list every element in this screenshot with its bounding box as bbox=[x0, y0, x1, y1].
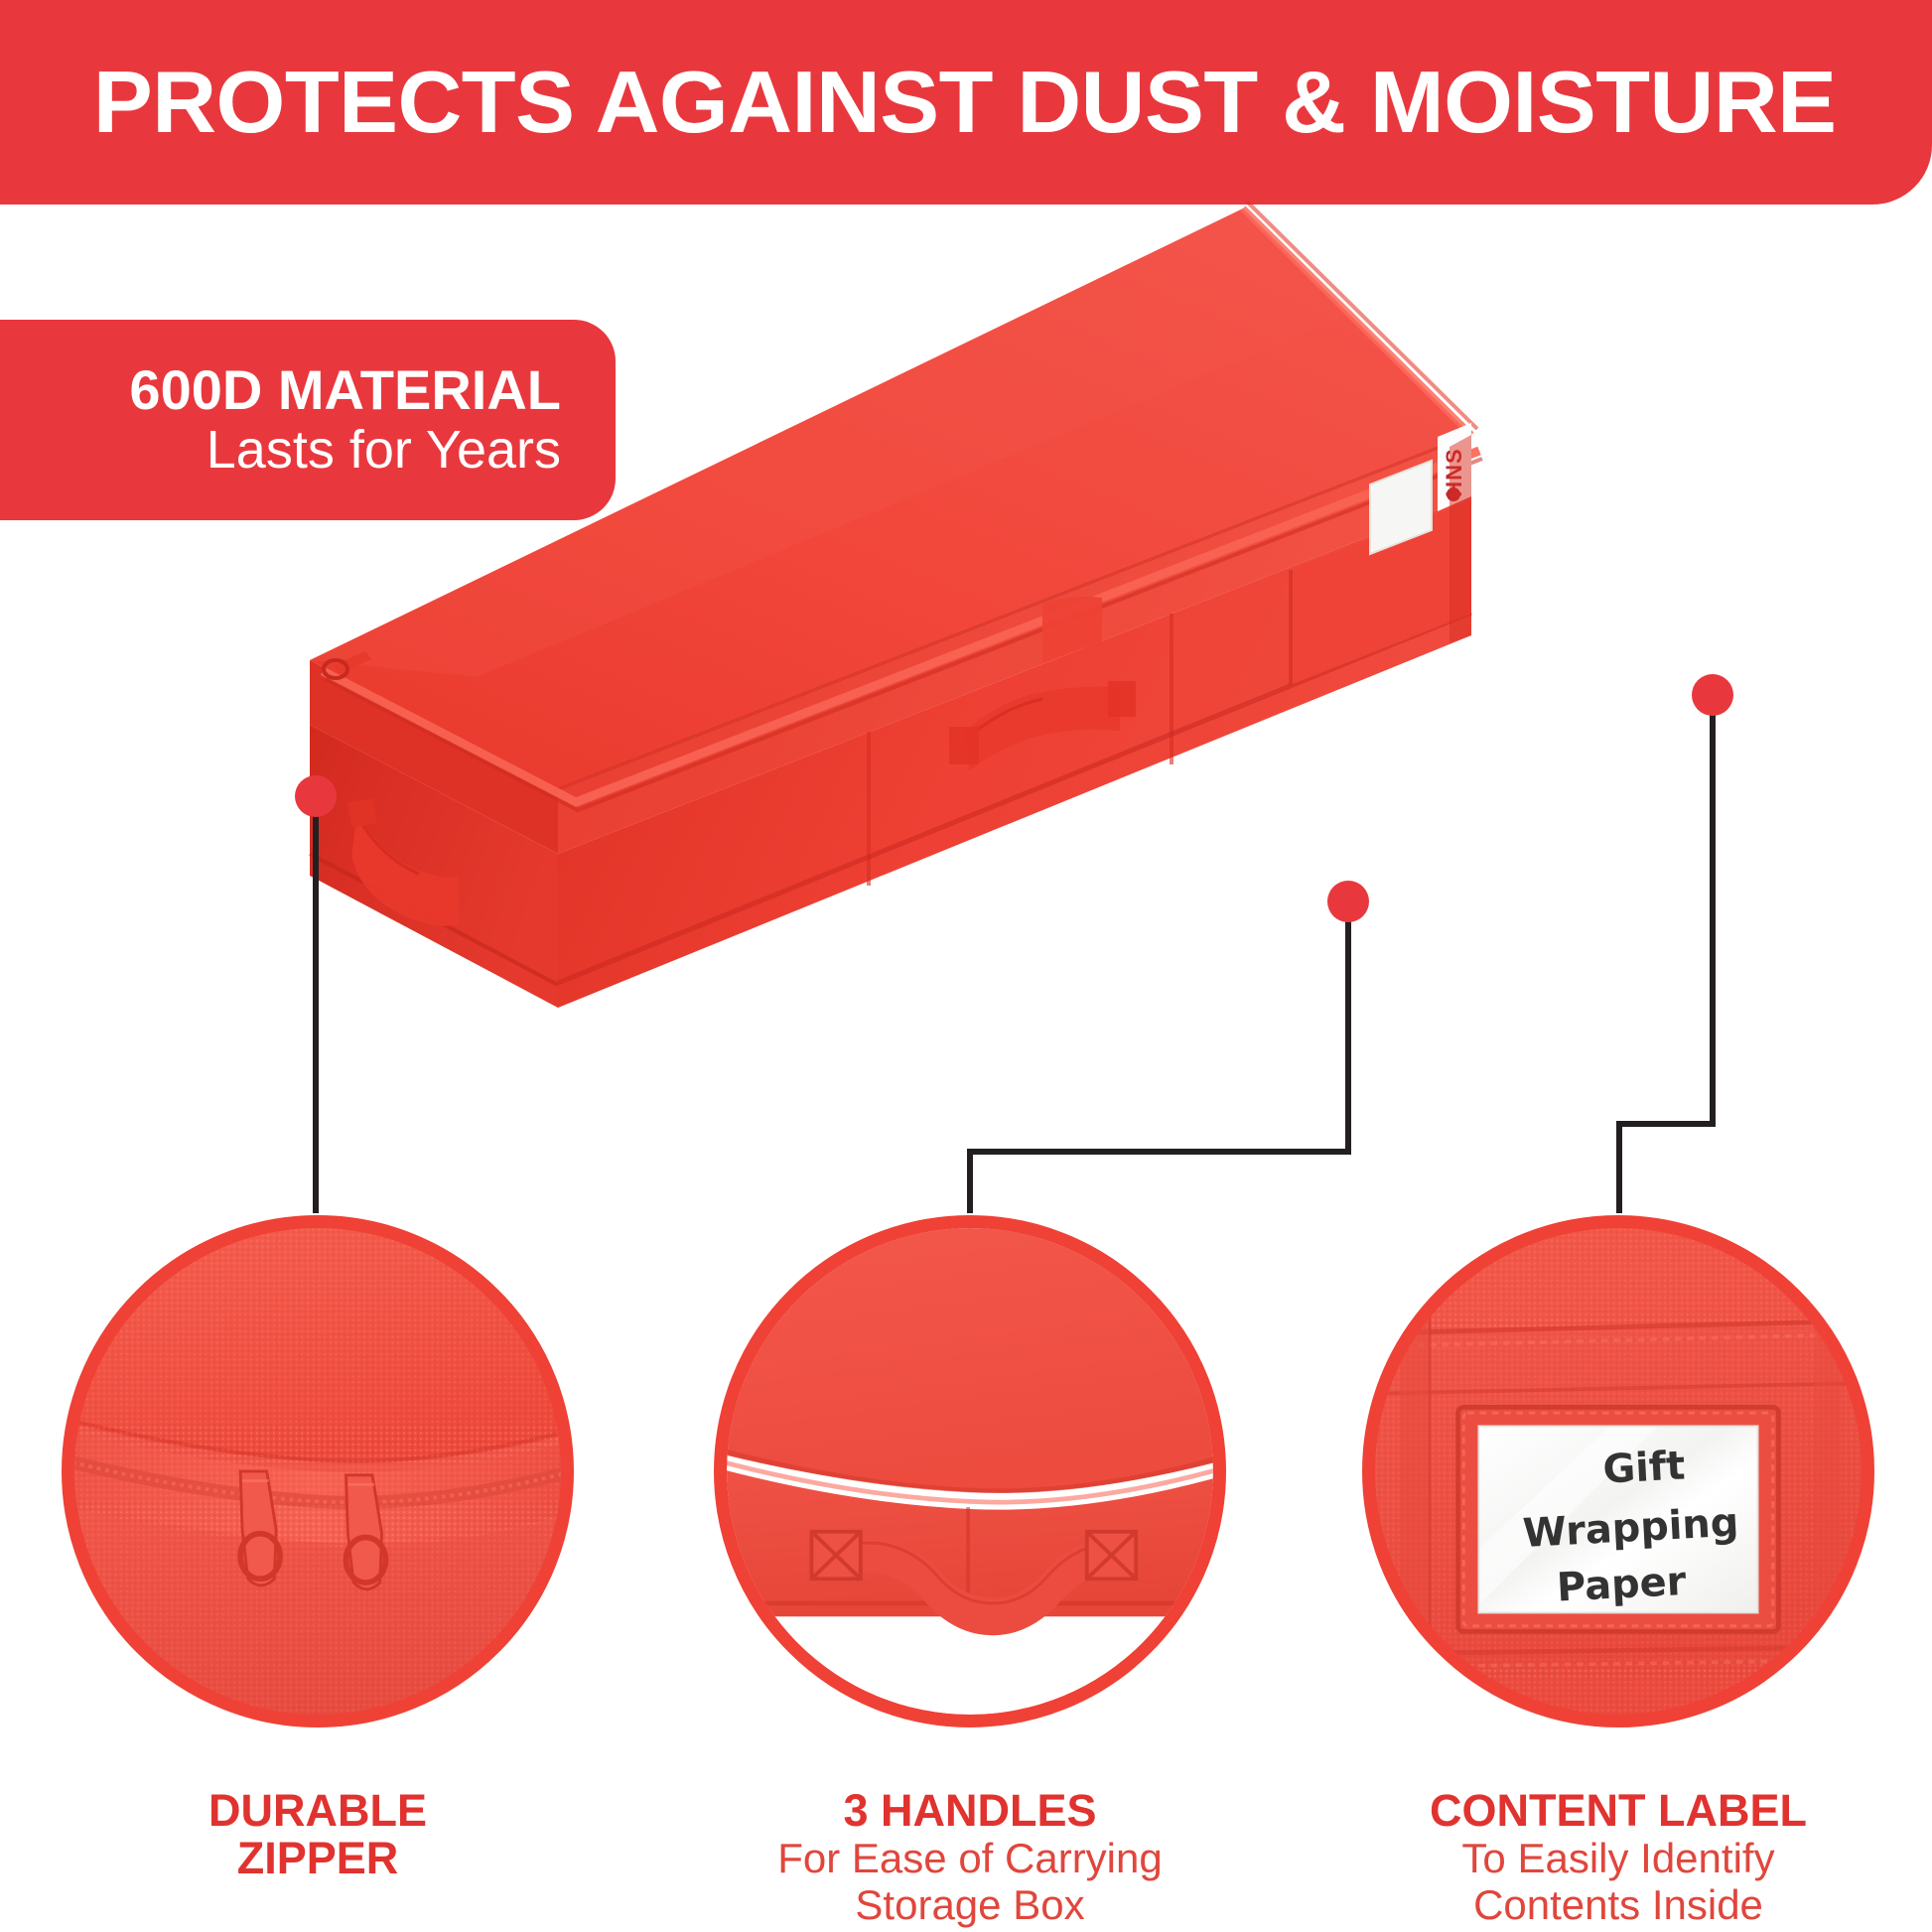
stitch-box-right-icon bbox=[1087, 1532, 1136, 1579]
caption-handles-sub-line1: For Ease of Carrying bbox=[712, 1835, 1228, 1881]
detail-circle-handles-image bbox=[727, 1228, 1213, 1715]
poster-canvas: PROTECTS AGAINST DUST & MOISTURE 600D MA… bbox=[0, 0, 1932, 1932]
detail-circle-zipper-image bbox=[74, 1228, 561, 1715]
caption-handles: 3 HANDLES For Ease of Carrying Storage B… bbox=[712, 1787, 1228, 1928]
callout-dot-label bbox=[1692, 674, 1733, 716]
caption-content-label-sub-line2: Contents Inside bbox=[1360, 1881, 1876, 1928]
product-hero-image: HNS bbox=[248, 169, 1658, 993]
banner-headline: PROTECTS AGAINST DUST & MOISTURE bbox=[0, 59, 1836, 146]
detail-circle-zipper bbox=[62, 1215, 574, 1727]
detail-circle-content-label-image: Gift Wrapping Paper bbox=[1375, 1228, 1862, 1715]
caption-content-label-title: CONTENT LABEL bbox=[1360, 1787, 1876, 1835]
caption-content-label: CONTENT LABEL To Easily Identify Content… bbox=[1360, 1787, 1876, 1928]
detail-circle-handles bbox=[714, 1215, 1226, 1727]
caption-zipper-title-line1: DURABLE bbox=[60, 1787, 576, 1835]
stitch-box-left-icon bbox=[811, 1532, 860, 1579]
caption-content-label-sub-line1: To Easily Identify bbox=[1360, 1835, 1876, 1881]
svg-text:Gift: Gift bbox=[1601, 1443, 1686, 1492]
caption-handles-title: 3 HANDLES bbox=[712, 1787, 1228, 1835]
detail-circle-content-label: Gift Wrapping Paper bbox=[1362, 1215, 1874, 1727]
product-illustration: HNS bbox=[248, 169, 1658, 993]
caption-handles-sub-line2: Storage Box bbox=[712, 1881, 1228, 1928]
caption-zipper: DURABLE ZIPPER bbox=[60, 1787, 576, 1881]
svg-text:Paper: Paper bbox=[1556, 1559, 1688, 1611]
caption-zipper-title-line2: ZIPPER bbox=[60, 1835, 576, 1882]
box-right-corner-fold bbox=[1449, 435, 1471, 643]
